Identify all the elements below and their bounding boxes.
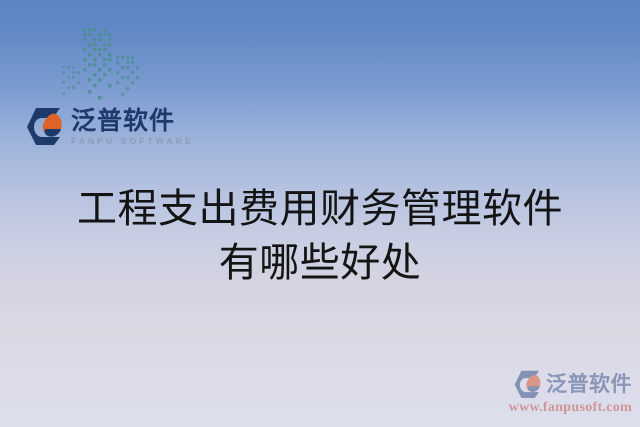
watermark: 泛普软件 www.fanpusoft.com xyxy=(509,369,632,415)
brand-logo: 泛普软件 FANPU SOFTWARE xyxy=(26,106,194,146)
watermark-url: www.fanpusoft.com xyxy=(509,401,632,415)
watermark-logo-row: 泛普软件 xyxy=(509,369,632,399)
page-title-line-1: 工程支出费用财务管理软件 xyxy=(0,182,640,236)
brand-name-chinese: 泛普软件 xyxy=(71,107,194,134)
fanpu-hexagon-logo-mark-icon xyxy=(26,106,64,146)
page-title-line-2: 有哪些好处 xyxy=(0,236,640,290)
page-title: 工程支出费用财务管理软件 有哪些好处 xyxy=(0,182,640,291)
fanpu-hexagon-logo-mark-watermark-icon xyxy=(514,369,542,399)
brand-logo-text: 泛普软件 FANPU SOFTWARE xyxy=(71,107,194,146)
watermark-brand-name: 泛普软件 xyxy=(546,374,632,395)
pixel-city-skyline-icon xyxy=(60,26,150,106)
brand-name-english: FANPU SOFTWARE xyxy=(71,137,194,146)
promo-banner: 泛普软件 FANPU SOFTWARE 工程支出费用财务管理软件 有哪些好处 泛… xyxy=(0,0,640,427)
